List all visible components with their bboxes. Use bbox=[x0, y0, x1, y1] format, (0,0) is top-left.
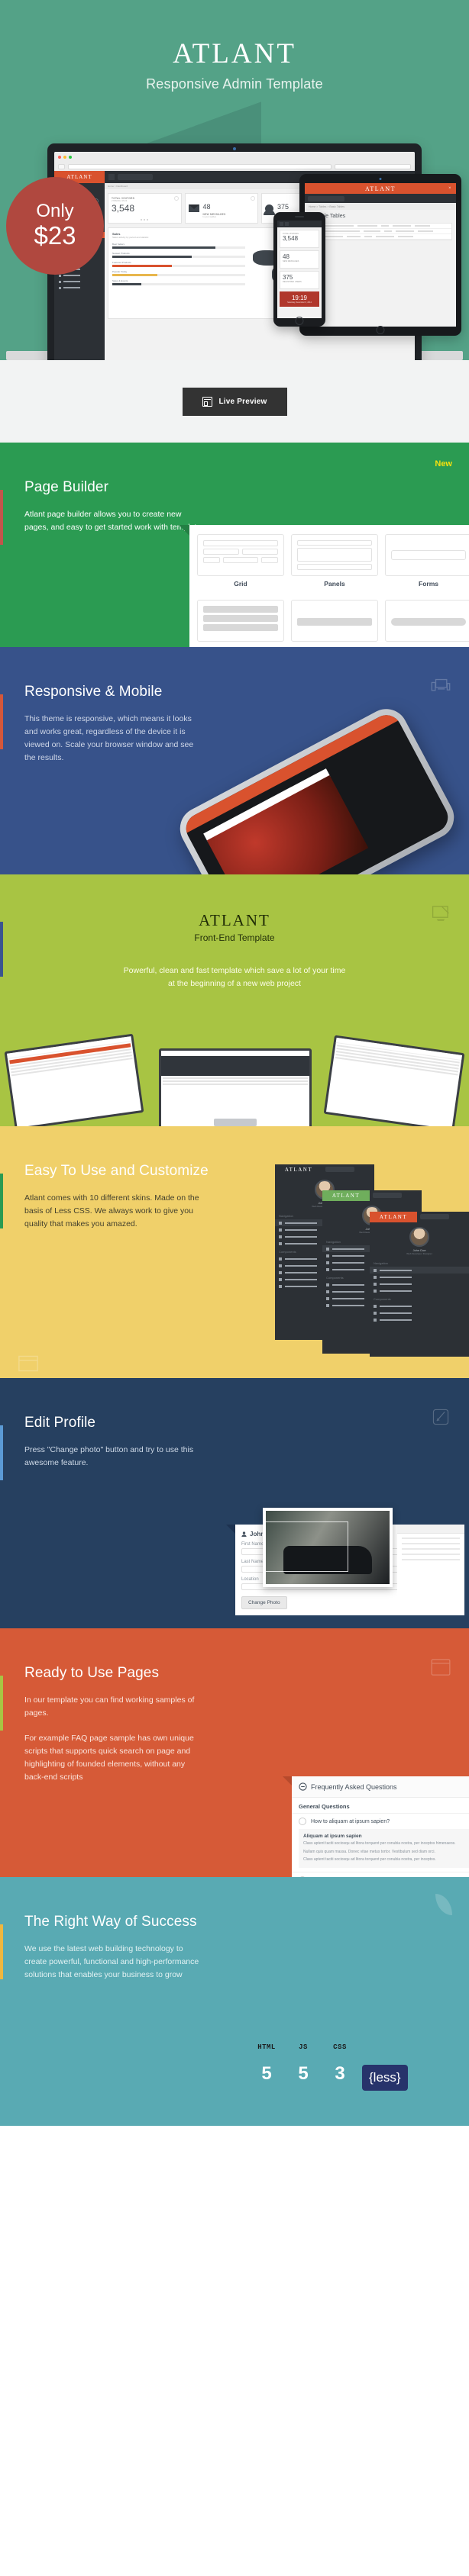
tablet-page-title: Sortable Tables bbox=[305, 210, 456, 223]
minimize-icon[interactable] bbox=[63, 156, 66, 159]
skin-red: ATLANT John Doe Web Developer Designer N… bbox=[370, 1212, 469, 1357]
html5-icon: HTML 5 bbox=[252, 2053, 281, 2091]
devices-icon bbox=[431, 678, 451, 694]
accent-tag bbox=[0, 922, 3, 977]
widget-label: NEW MESSAGES bbox=[203, 213, 226, 216]
monitor-group: Atlant — Responsive Bootstrap Admin Temp… bbox=[0, 1035, 469, 1126]
table-row bbox=[309, 234, 451, 240]
skin-nav-item[interactable] bbox=[370, 1287, 469, 1294]
bar-label: Sales & Events bbox=[112, 279, 245, 282]
widget-date: 27/08/2014 15:23 bbox=[112, 200, 178, 202]
accent-tag bbox=[0, 1676, 3, 1731]
section-responsive: Responsive & Mobile This theme is respon… bbox=[0, 647, 469, 874]
browser-icon bbox=[18, 1355, 38, 1372]
widget-sub: In your mailbox bbox=[203, 216, 226, 218]
edit-monitor-icon bbox=[431, 905, 451, 922]
widget-value: 48 bbox=[203, 203, 211, 211]
section-right-way: The Right Way of Success We use the late… bbox=[0, 1877, 469, 2126]
faq-title: Frequently Asked Questions bbox=[311, 1783, 397, 1791]
css3-num: 3 bbox=[325, 2063, 354, 2085]
builder-row: Lists Alerts Buttons bbox=[197, 600, 469, 647]
menu-icon[interactable] bbox=[280, 222, 283, 226]
badge-only-label: Only bbox=[36, 202, 73, 221]
section-body: Press "Change photo" button and try to u… bbox=[0, 1431, 205, 1470]
accent-tag bbox=[0, 1174, 3, 1228]
tablet-topbar bbox=[305, 194, 456, 203]
faq-answer-title: Aliquam at ipsum sapien bbox=[303, 1834, 469, 1839]
builder-item-buttons[interactable]: Buttons bbox=[385, 600, 469, 647]
html5-cap: HTML bbox=[257, 2043, 276, 2051]
bar-label: Featured Products bbox=[112, 261, 245, 264]
monitor-screen bbox=[7, 1036, 141, 1126]
monitor-screen bbox=[326, 1038, 462, 1126]
brand-label: ATLANT bbox=[365, 185, 396, 192]
profile-side-panel bbox=[397, 1525, 464, 1615]
widget-total-visitors: TOTAL VISITORS 27/08/2014 15:23 3,548 bbox=[108, 193, 182, 224]
page-builder-card: Grid Panels Forms bbox=[189, 525, 469, 647]
bar-row: Featured Products bbox=[112, 261, 245, 267]
frontend-subtitle: Front-End Template bbox=[0, 932, 469, 943]
sales-bars: Best Sellers Newest Products Featured Pr… bbox=[112, 243, 245, 288]
edit-square-icon bbox=[431, 1409, 451, 1425]
layout-icon bbox=[202, 397, 212, 407]
skin-nav-item[interactable] bbox=[370, 1309, 469, 1316]
js-num: 5 bbox=[289, 2063, 318, 2085]
envelope-icon bbox=[189, 204, 199, 212]
section-page-builder: New Page Builder Atlant page builder all… bbox=[0, 443, 469, 647]
search-icon[interactable] bbox=[285, 222, 289, 226]
builder-label: Panels bbox=[291, 580, 378, 588]
table bbox=[309, 223, 452, 240]
widget-value: 3,548 bbox=[283, 235, 316, 242]
bar-row: Best Sellers bbox=[112, 243, 245, 249]
live-preview-label: Live Preview bbox=[219, 398, 267, 406]
skin-nav-item[interactable] bbox=[370, 1316, 469, 1323]
url-input[interactable] bbox=[68, 164, 332, 169]
new-badge: New bbox=[435, 459, 452, 469]
phone-screen: TOTAL VISITORS 3,548 48 NEW MESSAGES 375… bbox=[277, 221, 322, 318]
browser-titlebar bbox=[54, 152, 415, 162]
monitor-screen: Atlant — Responsive Bootstrap Admin Temp… bbox=[161, 1051, 309, 1126]
section-easy-to-use: Easy To Use and Customize Atlant comes w… bbox=[0, 1126, 469, 1378]
browser-search-input[interactable] bbox=[335, 164, 411, 169]
faq-question[interactable]: How to aliquam at ipsum sapien? bbox=[292, 1813, 469, 1829]
builder-item-alerts[interactable]: Alerts bbox=[291, 600, 378, 647]
sidebar-item-charts[interactable] bbox=[54, 285, 105, 291]
widget-label: REGISTRED USERS bbox=[283, 281, 316, 283]
brand-label: ATLANT bbox=[322, 1190, 370, 1201]
widget-value: 375 bbox=[277, 203, 289, 211]
browser-addressbar bbox=[54, 162, 415, 171]
live-preview-button[interactable]: Live Preview bbox=[183, 388, 287, 416]
css3-icon: CSS 3 bbox=[325, 2053, 354, 2091]
monitor-center: Atlant — Responsive Bootstrap Admin Temp… bbox=[159, 1048, 312, 1126]
widget-value: 375 bbox=[283, 274, 316, 281]
section-body: Atlant page builder allows you to create… bbox=[0, 496, 205, 534]
builder-item-grid[interactable]: Grid bbox=[197, 534, 284, 597]
monitor-stand bbox=[214, 1119, 257, 1126]
skin-nav-item[interactable] bbox=[370, 1274, 469, 1280]
builder-item-forms[interactable]: Forms bbox=[385, 534, 469, 597]
section-body: Atlant comes with 10 different skins. Ma… bbox=[0, 1180, 205, 1231]
table-row bbox=[309, 224, 451, 229]
phone-topbar bbox=[277, 221, 322, 227]
badge-price: $23 bbox=[34, 222, 76, 250]
crop-handle[interactable] bbox=[263, 1521, 348, 1572]
chevron-up-icon bbox=[299, 1818, 306, 1825]
tablet-brand: ATLANT × bbox=[305, 183, 456, 194]
phone-widget-visitors: TOTAL VISITORS 3,548 bbox=[280, 230, 319, 248]
tablet-screen: ATLANT × Home > Tables > Basic Tables So… bbox=[305, 183, 456, 327]
side-panel-header bbox=[397, 1525, 464, 1534]
breadcrumb: Home > Tables > Basic Tables bbox=[305, 203, 456, 210]
phone-widget-users: 375 REGISTRED USERS bbox=[280, 271, 319, 289]
page-subtitle: Responsive Admin Template bbox=[0, 76, 469, 92]
page-title: ATLANT bbox=[0, 0, 469, 68]
widget-label: NEW MESSAGES bbox=[283, 260, 316, 262]
section-body-2: For example FAQ page sample has own uniq… bbox=[0, 1720, 205, 1784]
phone-widget-time: 19:19 Saturday, December 6, 2014 bbox=[280, 291, 319, 307]
css3-cap: CSS bbox=[333, 2043, 347, 2051]
skin-nav-item[interactable] bbox=[370, 1302, 469, 1309]
grid-thumb bbox=[197, 534, 284, 576]
html5-num: 5 bbox=[252, 2063, 281, 2085]
maximize-icon[interactable] bbox=[69, 156, 72, 159]
close-icon[interactable] bbox=[58, 156, 61, 159]
alerts-thumb bbox=[291, 600, 378, 642]
search-input[interactable] bbox=[308, 196, 344, 201]
phone-mockup: TOTAL VISITORS 3,548 48 NEW MESSAGES 375… bbox=[273, 212, 325, 327]
price-badge: Only $23 bbox=[6, 177, 104, 275]
landing-page: ATLANT Responsive Admin Template bbox=[0, 0, 469, 2126]
section-frontend: ATLANT Front-End Template Powerful, clea… bbox=[0, 874, 469, 1126]
faq-question[interactable]: Nunc pellentesque sagittis pulvinar? bbox=[292, 1872, 469, 1878]
faq-answer-text: Nullam quis quam massa. Donec vitae metu… bbox=[303, 1850, 469, 1856]
person-icon bbox=[241, 1531, 247, 1537]
close-icon[interactable] bbox=[174, 196, 179, 201]
accent-tag bbox=[0, 490, 3, 545]
change-photo-button[interactable]: Change Photo bbox=[241, 1596, 287, 1609]
panels-thumb bbox=[291, 534, 378, 576]
lists-thumb bbox=[197, 600, 284, 642]
search-input[interactable] bbox=[118, 174, 153, 180]
brand-label: ATLANT bbox=[370, 1212, 417, 1222]
forms-thumb bbox=[385, 534, 469, 576]
builder-item-lists[interactable]: Lists bbox=[197, 600, 284, 647]
builder-label: Grid bbox=[197, 580, 284, 588]
skins-stack: ATLANT John Doe Web Developer Designer N… bbox=[275, 1164, 469, 1369]
frontend-body: Powerful, clean and fast template which … bbox=[120, 964, 349, 990]
bar-row: Newest Products bbox=[112, 252, 245, 258]
section-body: This theme is responsive, which means it… bbox=[0, 700, 205, 765]
close-icon[interactable] bbox=[251, 196, 255, 201]
section-title: Edit Profile bbox=[0, 1378, 469, 1431]
faq-header: Frequently Asked Questions bbox=[292, 1776, 469, 1798]
window-icon bbox=[431, 1659, 451, 1676]
accent-tag bbox=[0, 1425, 3, 1480]
person-icon bbox=[265, 204, 273, 213]
skin-nav-item[interactable] bbox=[370, 1280, 469, 1287]
sidebar-toggle-icon[interactable] bbox=[108, 174, 115, 180]
site-header bbox=[161, 1051, 309, 1056]
builder-label: Forms bbox=[385, 580, 469, 588]
js-cap: JS bbox=[299, 2043, 308, 2051]
monitor-right bbox=[324, 1035, 465, 1126]
faq-answer-text: Class aptent taciti sociosqu ad litora t… bbox=[303, 1857, 469, 1863]
section-title: Responsive & Mobile bbox=[0, 647, 469, 700]
buttons-thumb bbox=[385, 600, 469, 642]
phone-render bbox=[173, 701, 461, 874]
bar-row: Sales & Events bbox=[112, 279, 245, 285]
section-title: Ready to Use Pages bbox=[0, 1628, 469, 1682]
accent-tag bbox=[0, 1924, 3, 1979]
collapse-icon[interactable] bbox=[299, 1782, 307, 1791]
section-body-1: In our template you can find working sam… bbox=[0, 1682, 205, 1720]
bar-label: Newest Products bbox=[112, 252, 245, 255]
brand-label: ATLANT bbox=[275, 1164, 322, 1175]
section-body: We use the latest web building technolog… bbox=[0, 1930, 205, 1982]
builder-item-panels[interactable]: Panels bbox=[291, 534, 378, 597]
section-edit-profile: Edit Profile Press "Change photo" button… bbox=[0, 1378, 469, 1628]
phone-screen bbox=[181, 710, 454, 874]
section-ready-pages: Ready to Use Pages In our template you c… bbox=[0, 1628, 469, 1877]
skin-nav-item[interactable] bbox=[370, 1267, 469, 1274]
accent-tag bbox=[0, 694, 3, 749]
skin-user-role: Web Developer Designer bbox=[370, 1252, 469, 1255]
sidebar-item-tables[interactable] bbox=[54, 279, 105, 285]
live-preview-band: Live Preview bbox=[0, 360, 469, 443]
widget-pager[interactable] bbox=[141, 219, 148, 221]
bar-row: Popular Today bbox=[112, 270, 245, 276]
bar-label: Best Sellers bbox=[112, 243, 245, 246]
site-hero: Atlant — Responsive Bootstrap Admin Temp… bbox=[161, 1056, 309, 1076]
faq-question-label: How to aliquam at ipsum sapien? bbox=[311, 1819, 390, 1824]
hero-section: ATLANT Responsive Admin Template bbox=[0, 0, 469, 360]
faq-answer-text: Class aptent taciti sociosqu ad litora t… bbox=[303, 1841, 469, 1847]
skin-components-header: Components bbox=[370, 1294, 469, 1302]
monitor-left bbox=[5, 1034, 144, 1126]
faq-panel: Frequently Asked Questions General Quest… bbox=[292, 1776, 469, 1877]
faq-answer: Aliquam at ipsum sapien Class aptent tac… bbox=[299, 1829, 469, 1868]
time-value: 19:19 bbox=[292, 295, 307, 301]
phone-widget-messages: 48 NEW MESSAGES bbox=[280, 250, 319, 269]
js-icon: JS 5 bbox=[289, 2053, 318, 2091]
faq-section-title: General Questions bbox=[292, 1798, 469, 1813]
time-sub: Saturday, December 6, 2014 bbox=[287, 301, 312, 304]
tech-logos: HTML 5 JS 5 CSS 3 {less} bbox=[252, 2053, 408, 2091]
avatar bbox=[409, 1227, 429, 1247]
widget-value: 3,548 bbox=[112, 203, 178, 214]
close-icon[interactable]: × bbox=[448, 186, 452, 191]
section-title: The Right Way of Success bbox=[0, 1877, 469, 1930]
section-title: Page Builder bbox=[0, 443, 469, 496]
widget-value: 48 bbox=[283, 253, 316, 260]
frontend-logo: ATLANT bbox=[0, 874, 469, 930]
back-button[interactable] bbox=[58, 164, 65, 169]
builder-row: Grid Panels Forms bbox=[197, 534, 469, 597]
skin-nav-header: Navigation bbox=[370, 1258, 469, 1267]
table-row bbox=[309, 229, 451, 234]
less-icon: {less} bbox=[362, 2065, 408, 2091]
widget-new-messages: 48 NEW MESSAGES In your mailbox bbox=[185, 193, 259, 224]
bar-label: Popular Today bbox=[112, 270, 245, 273]
